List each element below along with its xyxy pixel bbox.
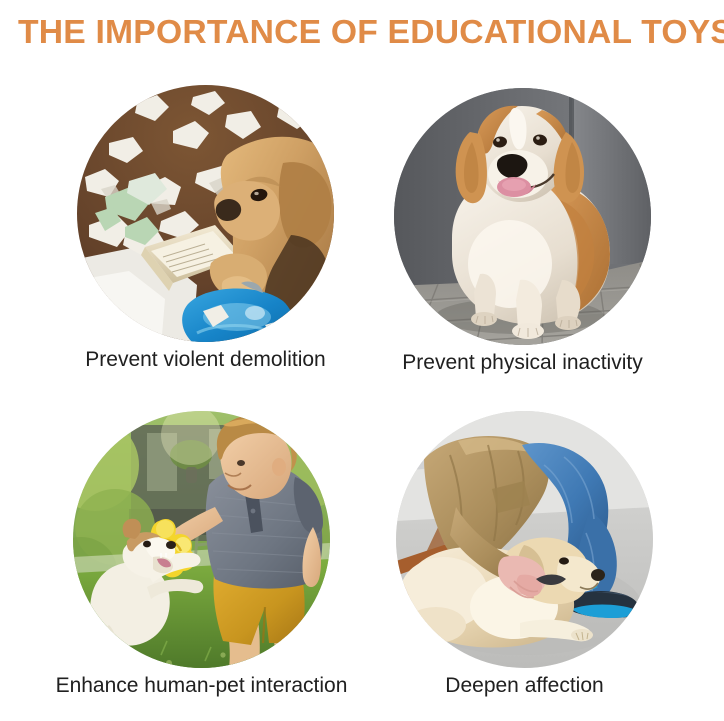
photo-circle-person-petting-dog — [396, 411, 653, 668]
card-caption: Prevent physical inactivity — [334, 350, 711, 376]
scene-dog-shredding-paper — [77, 85, 334, 342]
card-caption: Enhance human-pet interaction — [13, 673, 390, 699]
photo-circle-overweight-beagle — [394, 88, 651, 345]
scene-fat-beagle-sitting — [394, 88, 651, 345]
infographic-canvas: THE IMPORTANCE OF EDUCATIONAL TOYS — [0, 0, 724, 721]
scene-petting-labrador — [396, 411, 653, 668]
card-caption: Deepen affection — [336, 673, 713, 699]
page-title: THE IMPORTANCE OF EDUCATIONAL TOYS — [18, 13, 722, 51]
scene-boy-and-terrier — [73, 411, 330, 668]
photo-circle-shredded-paper — [77, 85, 334, 342]
photo-circle-boy-playing-with-dog — [73, 411, 330, 668]
